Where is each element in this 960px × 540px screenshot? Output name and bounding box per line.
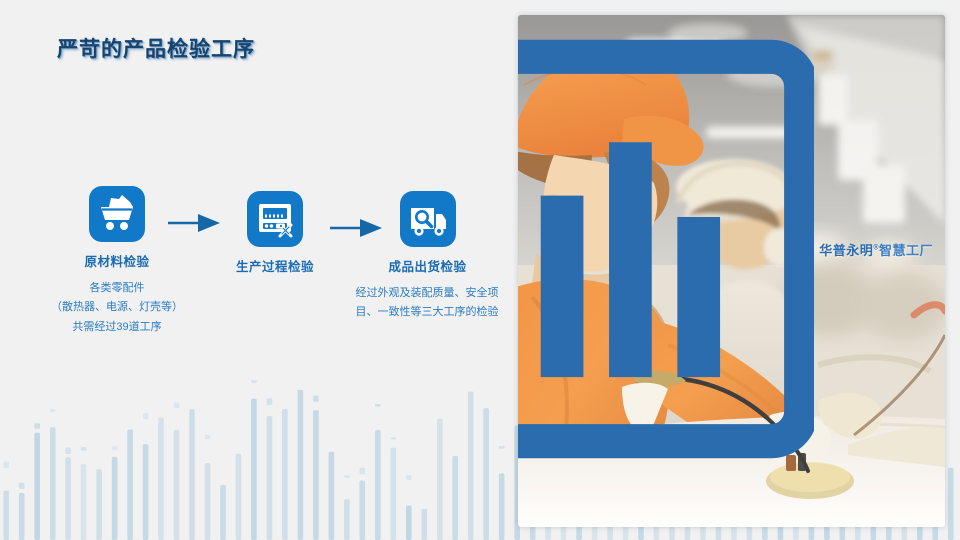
flow-step-desc: 经过外观及装配质量、安全项目、一致性等三大工序的检验 xyxy=(352,284,502,323)
flow-step-raw-material[interactable]: 原材料检验 各类零配件 （散热器、电源、灯壳等） 共需经过39道工序 xyxy=(42,186,192,337)
flow-step-label: 生产过程检验 xyxy=(215,256,335,275)
photo-watermark: 华普永明®智慧工厂 xyxy=(518,15,933,505)
mine-cart-icon xyxy=(89,186,145,242)
arrow-right-icon-1 xyxy=(168,213,220,235)
flow-step-label: 原材料检验 xyxy=(42,251,192,270)
delivery-truck-inspect-icon xyxy=(400,191,456,247)
inspection-flow: 原材料检验 各类零配件 （散热器、电源、灯壳等） 共需经过39道工序 xyxy=(0,186,520,376)
flow-step-desc: 各类零配件 （散热器、电源、灯壳等） 共需经过39道工序 xyxy=(42,279,192,337)
flow-step-label: 成品出货检验 xyxy=(355,256,500,275)
desc-line: 经过外观及装配质量、安全项目、一致性等三大工序的检验 xyxy=(352,284,502,323)
factory-photo: 华普永明®智慧工厂 xyxy=(518,15,945,527)
production-machine-icon xyxy=(247,191,303,247)
desc-line: （散热器、电源、灯壳等） xyxy=(42,298,192,317)
watermark-brand: 华普永明 xyxy=(819,243,873,258)
desc-line: 各类零配件 xyxy=(42,279,192,298)
page-title: 严苛的产品检验工序 xyxy=(57,33,255,63)
page-title-wrap: 严苛的产品检验工序 xyxy=(57,33,255,63)
flow-step-shipping[interactable]: 成品出货检验 经过外观及装配质量、安全项目、一致性等三大工序的检验 xyxy=(355,191,500,323)
watermark-text: 华普永明®智慧工厂 xyxy=(819,240,933,259)
desc-line: 共需经过39道工序 xyxy=(42,318,192,337)
flow-step-production[interactable]: 生产过程检验 xyxy=(215,191,335,275)
slide-root: 严苛的产品检验工序 原材料检验 各类零配件 xyxy=(0,0,960,540)
huapu-logo-icon xyxy=(518,15,814,505)
watermark-suffix: 智慧工厂 xyxy=(879,243,933,258)
